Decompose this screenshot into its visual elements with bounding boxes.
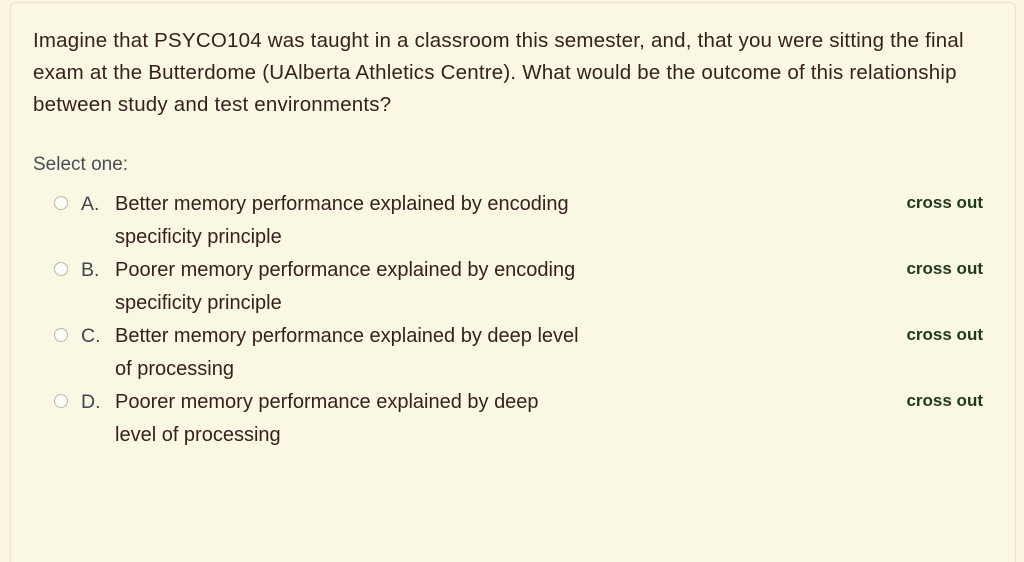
radio-button-d[interactable] (54, 394, 68, 408)
answer-options-list: A. Better memory performance explained b… (33, 188, 991, 452)
answer-letter-c: C. (81, 320, 115, 353)
cross-out-link-d[interactable]: cross out (906, 391, 983, 411)
radio-button-a[interactable] (54, 196, 68, 210)
cross-out-link-c[interactable]: cross out (906, 325, 983, 345)
answer-text-a[interactable]: Better memory performance explained by e… (115, 188, 585, 254)
cross-out-link-b[interactable]: cross out (906, 259, 983, 279)
answer-letter-a: A. (81, 188, 115, 221)
radio-wrap-a (54, 188, 68, 210)
select-one-label: Select one: (33, 153, 991, 177)
question-text: Imagine that PSYCO104 was taught in a cl… (33, 25, 991, 121)
answer-option-c[interactable]: C. Better memory performance explained b… (33, 320, 991, 386)
answer-text-b[interactable]: Poorer memory performance explained by e… (115, 254, 585, 320)
radio-button-c[interactable] (54, 328, 68, 342)
radio-wrap-c (54, 320, 68, 342)
radio-button-b[interactable] (54, 262, 68, 276)
answer-option-d[interactable]: D. Poorer memory performance explained b… (33, 386, 991, 452)
answer-option-a[interactable]: A. Better memory performance explained b… (33, 188, 991, 254)
answer-text-c[interactable]: Better memory performance explained by d… (115, 320, 585, 386)
cross-out-link-a[interactable]: cross out (906, 193, 983, 213)
answer-letter-d: D. (81, 386, 115, 419)
radio-wrap-b (54, 254, 68, 276)
quiz-question-card: Imagine that PSYCO104 was taught in a cl… (10, 2, 1016, 562)
radio-wrap-d (54, 386, 68, 408)
answer-text-d[interactable]: Poorer memory performance explained by d… (115, 386, 585, 452)
answer-letter-b: B. (81, 254, 115, 287)
answer-option-b[interactable]: B. Poorer memory performance explained b… (33, 254, 991, 320)
